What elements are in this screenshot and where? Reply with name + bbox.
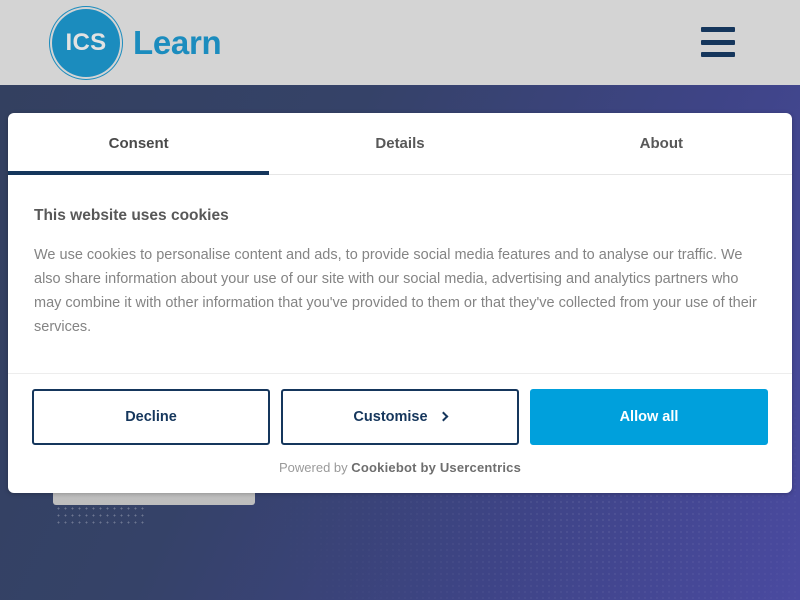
chevron-right-icon [438,411,448,421]
hamburger-bar-3 [701,52,735,57]
powered-by-footer: Powered by Cookiebot by Usercentrics [8,445,792,493]
hamburger-bar-2 [701,40,735,45]
dialog-description: We use cookies to personalise content an… [34,243,766,373]
logo-initials: ICS [66,31,107,55]
cookie-consent-dialog: Consent Details About This website uses … [8,113,792,493]
powered-by-prefix: Powered by [279,460,348,475]
brand-logo[interactable]: ICS Learn [52,9,221,77]
allow-all-button[interactable]: Allow all [530,389,768,445]
dialog-body: This website uses cookies We use cookies… [8,175,792,373]
site-header: ICS Learn [0,0,800,85]
tab-consent[interactable]: Consent [8,113,269,174]
ics-circle-logo-icon: ICS [52,9,120,77]
customise-button[interactable]: Customise [281,389,519,445]
hamburger-bar-1 [701,27,735,32]
allow-all-button-label: Allow all [620,409,679,425]
hamburger-menu-icon[interactable] [701,27,735,57]
customise-button-label: Customise [353,409,427,425]
decline-button[interactable]: Decline [32,389,270,445]
dialog-tabs: Consent Details About [8,113,792,175]
tab-about[interactable]: About [531,113,792,174]
decline-button-label: Decline [125,409,177,425]
powered-by-brand[interactable]: Cookiebot by Usercentrics [351,460,521,475]
dialog-title: This website uses cookies [34,207,766,225]
dialog-actions: Decline Customise Allow all [8,373,792,445]
brand-wordmark: Learn [133,24,221,62]
tab-details[interactable]: Details [269,113,530,174]
